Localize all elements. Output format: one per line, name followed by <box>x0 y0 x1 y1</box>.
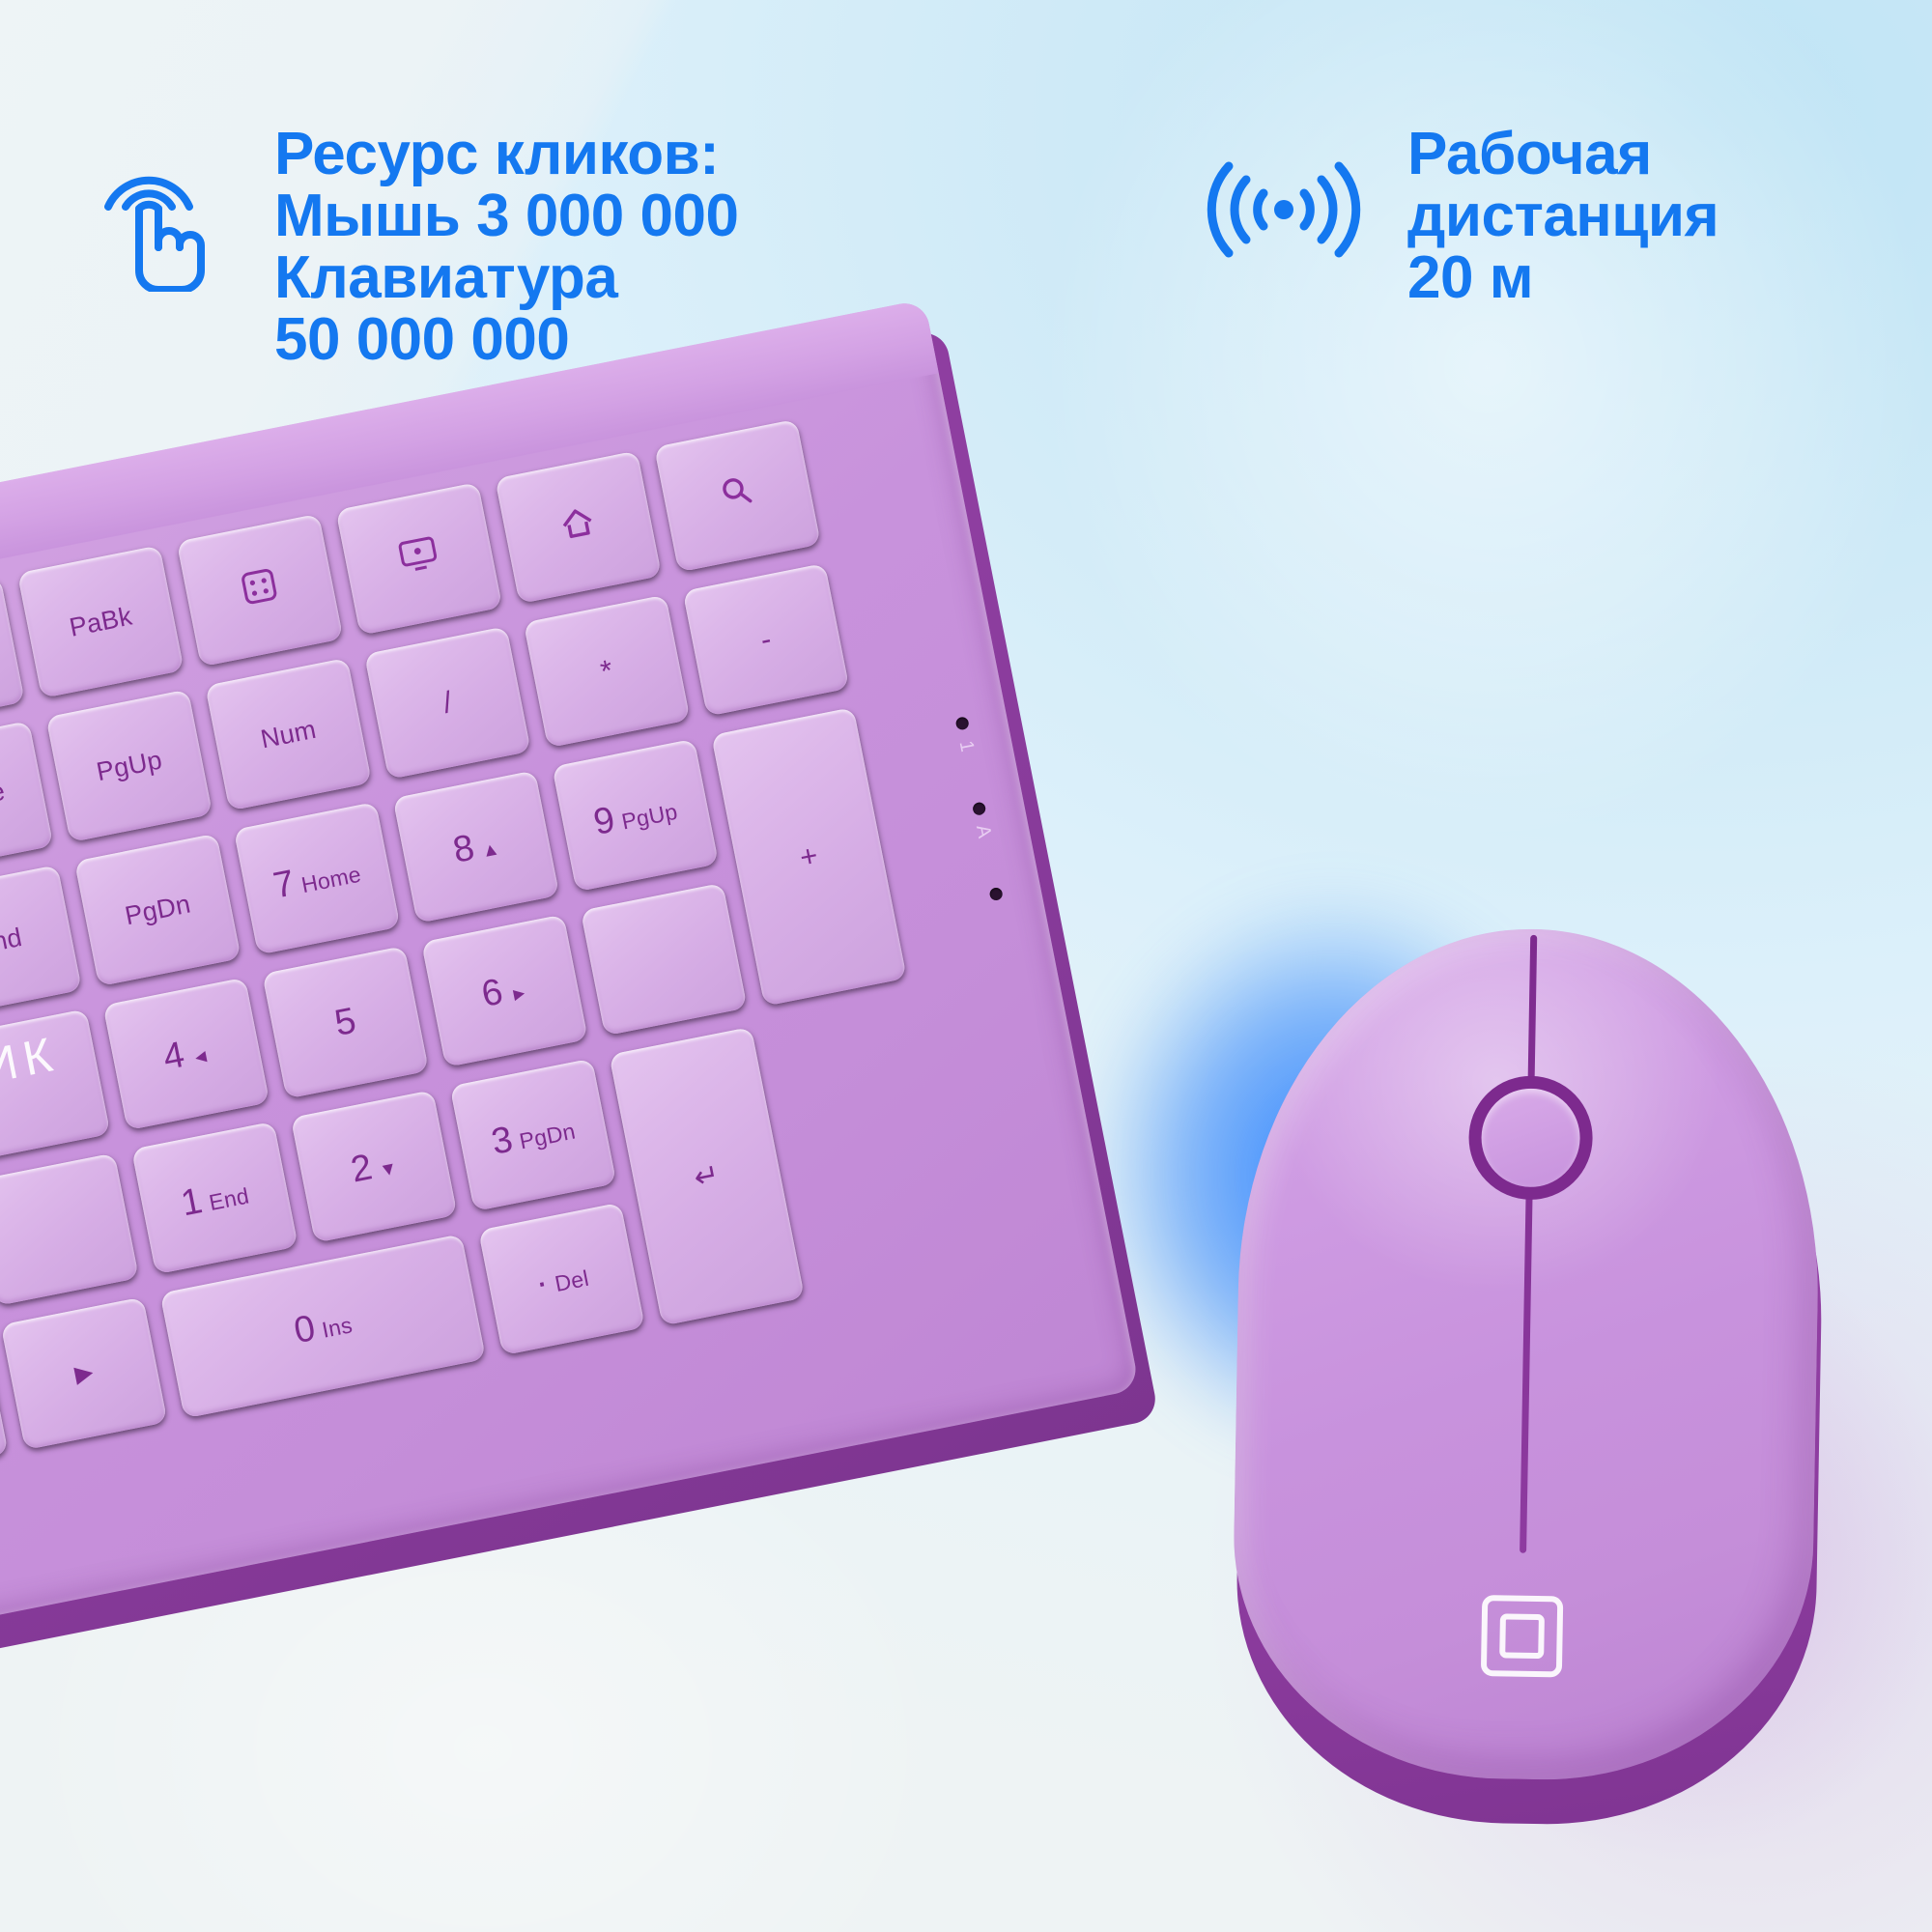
key-home-shortcut[interactable] <box>495 450 662 604</box>
key-arrow-right[interactable]: ► <box>1 1296 168 1450</box>
key-label: 6 ► <box>478 966 531 1015</box>
key-label: PgDn <box>123 889 193 931</box>
led-dot <box>954 716 969 730</box>
key-label: · Del <box>531 1253 591 1304</box>
key-display[interactable] <box>335 482 502 636</box>
mouse[interactable] <box>1210 902 1864 1879</box>
key-label: 9 PgUp <box>590 786 680 843</box>
key-search[interactable] <box>654 419 821 573</box>
key-label: 4 ◄ <box>159 1029 213 1078</box>
mouse-button-divider <box>1520 935 1537 1553</box>
led-dot <box>988 887 1003 901</box>
key-label: ↵ <box>691 1157 723 1196</box>
scroll-lock-led <box>975 884 1018 910</box>
mouse-shell <box>1230 924 1824 1784</box>
home-icon <box>553 500 603 554</box>
key-home[interactable]: Home <box>0 721 53 874</box>
callout-working-range-text: Рабочая дистанция 20 м <box>1407 124 1719 309</box>
key-label: ► <box>66 1353 101 1393</box>
search-icon <box>714 469 761 523</box>
key-label: 0 Ins <box>291 1300 355 1352</box>
key-label: 7 Home <box>270 849 364 907</box>
mouse-brand-mark-icon <box>1481 1595 1563 1677</box>
wireless-signal-icon <box>1203 137 1365 282</box>
key-numpad-plus[interactable]: + <box>711 707 907 1007</box>
callout-working-range: Рабочая дистанция 20 м <box>1203 124 1719 309</box>
mouse-scroll-wheel[interactable] <box>1467 1075 1593 1201</box>
key-label: Home <box>0 776 8 819</box>
key-numpad-6[interactable]: 6 ► <box>421 914 588 1067</box>
key-numpad-divide[interactable]: / <box>364 626 531 780</box>
key-label: Num <box>258 714 319 754</box>
key-label: 3 PgDn <box>488 1106 578 1163</box>
key-numpad-5[interactable]: 5 <box>262 946 429 1099</box>
key-label: - <box>757 622 774 658</box>
callout-click-lifespan: Ресурс кликов: Мышь 3 000 000 Клавиатура… <box>89 124 738 370</box>
key-numpad-minus[interactable]: - <box>683 563 850 717</box>
key-row5-blank-2[interactable] <box>0 1152 139 1306</box>
app-grid-icon <box>237 564 284 617</box>
key-numpad-multiply[interactable]: * <box>524 595 691 749</box>
led-dot <box>972 802 986 816</box>
key-label: PgUp <box>94 745 164 787</box>
key-numpad-7[interactable]: 7 Home <box>234 802 401 955</box>
key-label: End <box>0 923 24 961</box>
key-sclk[interactable]: ScLk <box>0 577 25 730</box>
key-label: 5 <box>331 1000 359 1044</box>
key-numpad-1[interactable]: 1 End <box>131 1122 298 1275</box>
key-pgup[interactable]: PgUp <box>45 689 213 842</box>
tap-click-icon <box>89 147 214 292</box>
key-row4-spare[interactable] <box>581 883 748 1037</box>
key-numpad-2[interactable]: 2 ▼ <box>291 1090 458 1243</box>
key-label: 8 ▲ <box>449 822 502 871</box>
key-label: / <box>440 685 456 721</box>
led-label: A <box>971 823 995 840</box>
key-num[interactable]: Num <box>205 658 372 811</box>
key-numpad-4[interactable]: 4 ◄ <box>102 978 270 1131</box>
key-label: + <box>797 838 821 875</box>
led-label: 1 <box>954 739 979 753</box>
key-end[interactable]: End <box>0 865 82 1018</box>
num-lock-led: 1 <box>941 714 988 761</box>
key-label: 1 End <box>178 1171 252 1225</box>
key-label: * <box>598 653 616 690</box>
key-numpad-dot[interactable]: · Del <box>478 1203 645 1356</box>
product-banner: Ресурс кликов: Мышь 3 000 000 Клавиатура… <box>0 0 1932 1932</box>
key-numpad-8[interactable]: 8 ▲ <box>393 770 560 923</box>
key-label: 2 ▼ <box>348 1142 401 1191</box>
key-numpad-9[interactable]: 9 PgUp <box>552 739 719 893</box>
key-numpad-enter[interactable]: ↵ <box>609 1027 805 1326</box>
key-label: PaBk <box>67 601 134 642</box>
key-pgdn[interactable]: PgDn <box>74 834 241 987</box>
monitor-icon <box>394 532 444 586</box>
key-numpad-3[interactable]: 3 PgDn <box>450 1058 617 1211</box>
caps-lock-led: A <box>957 799 1005 846</box>
key-apps[interactable] <box>177 514 344 668</box>
key-pabk[interactable]: PaBk <box>17 545 185 698</box>
callout-click-lifespan-text: Ресурс кликов: Мышь 3 000 000 Клавиатура… <box>274 124 738 370</box>
